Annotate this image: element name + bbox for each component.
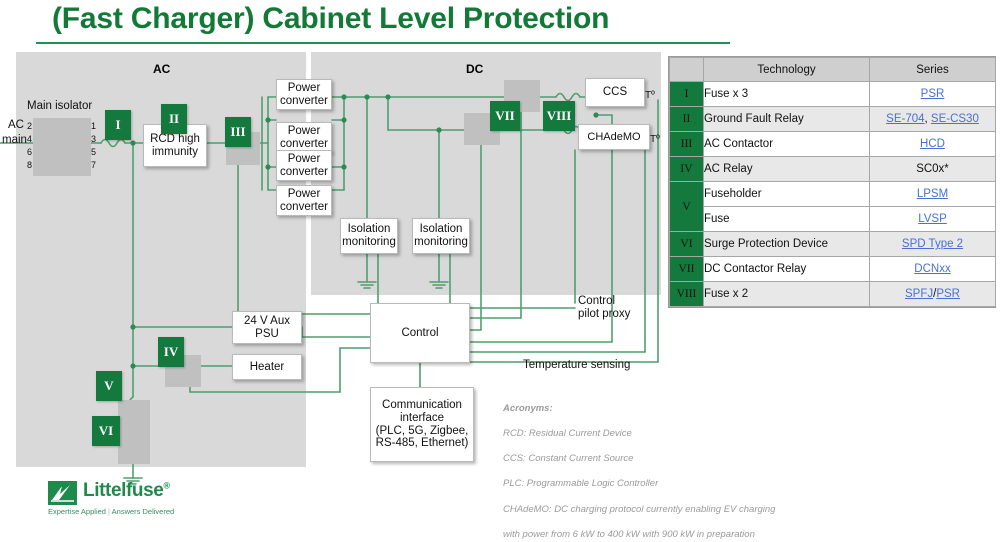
temperature-sensing-label: Temperature sensing xyxy=(523,359,630,372)
chip-V[interactable]: V xyxy=(96,371,122,401)
table-row: VIII Fuse x 2 SPFJ/PSR xyxy=(670,282,996,307)
row-tech-3: AC Contactor xyxy=(704,132,870,157)
row-tech-8: DC Contactor Relay xyxy=(704,257,870,282)
isolator-terminal-1: 1 xyxy=(91,121,96,131)
isolator-terminal-7: 7 xyxy=(91,160,96,170)
series-link-se704[interactable]: SE-704 xyxy=(886,113,924,125)
series-link-lpsm[interactable]: LPSM xyxy=(917,188,948,200)
isolator-terminal-8: 8 xyxy=(27,160,32,170)
series-link-psr-2[interactable]: PSR xyxy=(936,288,960,300)
table-header-num xyxy=(670,58,704,82)
littelfuse-name: Littelfuse xyxy=(83,480,163,501)
spd-body xyxy=(118,400,150,464)
chademo-box[interactable]: CHAdeMO xyxy=(578,124,650,150)
series-link-spd-type-2[interactable]: SPD Type 2 xyxy=(902,238,963,250)
table-header-series: Series xyxy=(870,58,996,82)
table-row: II Ground Fault Relay SE-704, SE-CS30 xyxy=(670,107,996,132)
isolator-terminal-6: 6 xyxy=(27,147,32,157)
row-series-9[interactable]: SPFJ/PSR xyxy=(870,282,996,307)
row-num-7: VI xyxy=(670,232,704,257)
row-series-7[interactable]: SPD Type 2 xyxy=(870,232,996,257)
control-pilot-proxy-label: Control pilot proxy xyxy=(578,295,630,321)
row-num-1: I xyxy=(670,82,704,107)
row-num-5: V xyxy=(670,182,704,232)
row-num-3: III xyxy=(670,132,704,157)
series-link-dcnxx[interactable]: DCNxx xyxy=(914,263,950,275)
chip-IV[interactable]: IV xyxy=(158,337,184,367)
row-tech-4: AC Relay xyxy=(704,157,870,182)
slide-root: (Fast Charger) Cabinet Level Protection … xyxy=(0,0,1000,521)
row-series-8[interactable]: DCNxx xyxy=(870,257,996,282)
technology-table: Technology Series I Fuse x 3 PSR II Grou… xyxy=(668,56,996,308)
tagline-left: Expertise Applied xyxy=(48,507,106,516)
series-link-spfj[interactable]: SPFJ xyxy=(905,288,933,300)
row-num-8: VII xyxy=(670,257,704,282)
row-tech-2: Ground Fault Relay xyxy=(704,107,870,132)
littelfuse-mark-icon xyxy=(48,481,77,505)
row-series-6[interactable]: LVSP xyxy=(870,207,996,232)
row-num-9: VIII xyxy=(670,282,704,307)
littelfuse-tagline: Expertise Applied | Answers Delivered xyxy=(48,507,174,516)
isolator-terminal-4: 4 xyxy=(27,134,32,144)
power-converter-2[interactable]: Power converter xyxy=(276,122,332,153)
power-converter-3[interactable]: Power converter xyxy=(276,150,332,181)
row-tech-7: Surge Protection Device xyxy=(704,232,870,257)
ccs-box[interactable]: CCS xyxy=(585,78,645,107)
table-row: III AC Contactor HCD xyxy=(670,132,996,157)
row-num-4: IV xyxy=(670,157,704,182)
table-header-technology: Technology xyxy=(704,58,870,82)
littelfuse-registered: ® xyxy=(163,481,169,491)
acronym-line-2: CCS: Constant Current Source xyxy=(503,453,633,464)
row-series-1[interactable]: PSR xyxy=(870,82,996,107)
row-tech-5: Fuseholder xyxy=(704,182,870,207)
aux-psu-box[interactable]: 24 V Aux PSU xyxy=(232,311,302,344)
ac-main-label-line1: AC xyxy=(8,119,24,132)
control-box[interactable]: Control xyxy=(370,303,470,363)
power-converter-1[interactable]: Power converter xyxy=(276,79,332,110)
row-tech-9: Fuse x 2 xyxy=(704,282,870,307)
series-link-lvsp[interactable]: LVSP xyxy=(918,213,947,225)
series-link-psr[interactable]: PSR xyxy=(921,88,945,100)
isolator-terminal-5: 5 xyxy=(91,147,96,157)
main-isolator-body xyxy=(33,118,91,176)
temp-symbol-chademo: Tº xyxy=(650,134,660,146)
table-row: Fuse LVSP xyxy=(670,207,996,232)
chip-I[interactable]: I xyxy=(105,110,131,140)
table-row: I Fuse x 3 PSR xyxy=(670,82,996,107)
series-link-secs30[interactable]: SE-CS30 xyxy=(931,113,979,125)
isolation-monitoring-2[interactable]: Isolation monitoring xyxy=(412,218,470,254)
row-num-2: II xyxy=(670,107,704,132)
acronyms-heading: Acronyms: xyxy=(503,403,553,414)
isolator-terminal-3: 3 xyxy=(91,134,96,144)
ac-main-label-line2: main xyxy=(2,134,27,147)
row-series-4: SC0x* xyxy=(870,157,996,182)
acronym-line-4: CHAdeMO: DC charging protocol currently … xyxy=(503,504,775,515)
acronym-line-1: RCD: Residual Current Device xyxy=(503,428,632,439)
acronyms-block: Acronyms: RCD: Residual Current Device C… xyxy=(503,390,775,542)
main-isolator-label: Main isolator xyxy=(27,100,92,113)
temp-symbol-ccs: Tº xyxy=(645,90,655,102)
ac-panel-label: AC xyxy=(153,62,170,76)
row-series-2[interactable]: SE-704, SE-CS30 xyxy=(870,107,996,132)
series-link-hcd[interactable]: HCD xyxy=(920,138,945,150)
chip-II[interactable]: II xyxy=(161,104,187,134)
table-header-row: Technology Series xyxy=(670,58,996,82)
series-text-sc0x: SC0x* xyxy=(916,163,949,175)
page-title: (Fast Charger) Cabinet Level Protection xyxy=(52,2,609,36)
communication-interface-box[interactable]: Communication interface (PLC, 5G, Zigbee… xyxy=(370,387,474,462)
table-row: VI Surge Protection Device SPD Type 2 xyxy=(670,232,996,257)
row-tech-1: Fuse x 3 xyxy=(704,82,870,107)
table-row: IV AC Relay SC0x* xyxy=(670,157,996,182)
chip-III[interactable]: III xyxy=(225,117,251,147)
isolation-monitoring-1[interactable]: Isolation monitoring xyxy=(340,218,398,254)
row-tech-6: Fuse xyxy=(704,207,870,232)
table-row: V Fuseholder LPSM xyxy=(670,182,996,207)
row-series-3[interactable]: HCD xyxy=(870,132,996,157)
row-series-5[interactable]: LPSM xyxy=(870,182,996,207)
dc-panel-label: DC xyxy=(466,62,483,76)
littelfuse-wordmark: Littelfuse® xyxy=(83,480,170,502)
tagline-separator: | xyxy=(108,507,110,516)
heater-box[interactable]: Heater xyxy=(232,354,302,380)
table-row: VII DC Contactor Relay DCNxx xyxy=(670,257,996,282)
acronym-line-5: with power from 6 kW to 400 kW with 900 … xyxy=(503,529,755,540)
chip-VIII[interactable]: VIII xyxy=(543,101,575,131)
chip-VI[interactable]: VI xyxy=(92,416,120,446)
chip-VII[interactable]: VII xyxy=(490,101,520,131)
title-underline xyxy=(36,42,730,44)
power-converter-4[interactable]: Power converter xyxy=(276,185,332,216)
tagline-right: Answers Delivered xyxy=(112,507,175,516)
acronym-line-3: PLC: Programmable Logic Controller xyxy=(503,478,658,489)
isolator-terminal-2: 2 xyxy=(27,121,32,131)
